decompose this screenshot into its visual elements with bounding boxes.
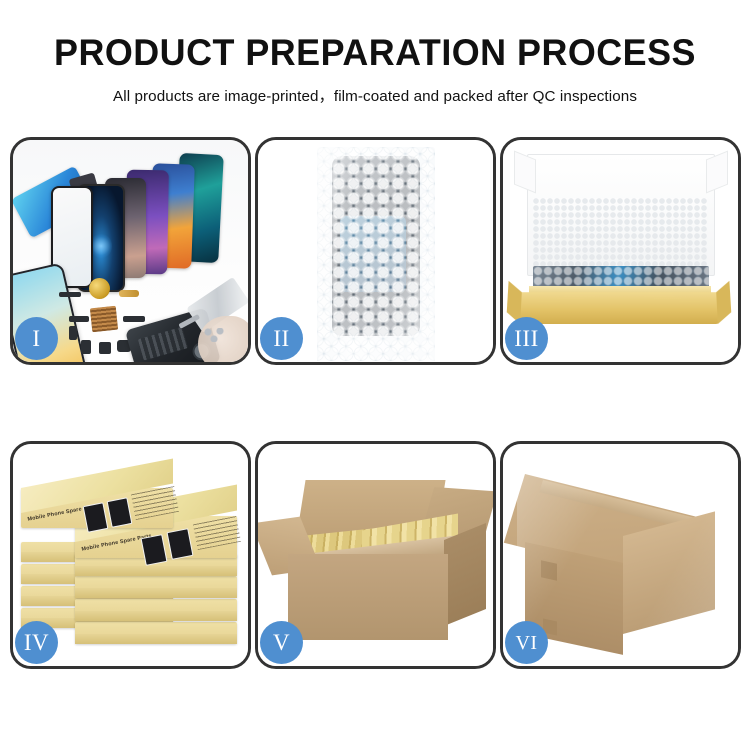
retail-box [75,599,237,621]
step-panel-4: Mobile Phone Spare Parts Mobile Phone Sp… [10,441,251,669]
mailer-box-front [518,292,720,324]
camera-module-part [99,342,111,354]
step-panel-2: II [255,137,496,365]
carton-side-panel [444,523,486,626]
step-panel-5: V [255,441,496,669]
plastic-sheen [317,147,435,361]
step-badge-2: II [260,317,303,360]
step-badge-4: IV [15,621,58,664]
page-subtitle: All products are image-printed，film-coat… [0,84,750,106]
process-steps-grid: I II III [10,137,740,669]
earpiece-part [59,292,81,297]
foam-lining [533,198,707,272]
antenna-part [123,316,145,322]
sim-tray-part [81,340,91,354]
retail-box [75,622,237,644]
header: PRODUCT PREPARATION PROCESS All products… [0,0,750,106]
carton-front-panel [288,554,448,640]
bracket-part [69,326,77,340]
speaker-part [69,316,89,322]
connector-grid-part [90,306,118,333]
retail-box [75,576,237,598]
step-panel-3: III [500,137,741,365]
step-panel-6: VI [500,441,741,669]
step-badge-5: V [260,621,303,664]
step-badge-3: III [505,317,548,360]
screws-part [204,328,230,342]
carton-handle-tab [541,560,557,580]
flex-cable-part [119,290,139,297]
page-title: PRODUCT PREPARATION PROCESS [11,34,739,71]
step-badge-1: I [15,317,58,360]
step-panel-1: I [10,137,251,365]
vibration-motor-part [89,278,110,299]
step-badge-6: VI [505,621,548,664]
product-preparation-infographic: PRODUCT PREPARATION PROCESS All products… [0,0,750,750]
